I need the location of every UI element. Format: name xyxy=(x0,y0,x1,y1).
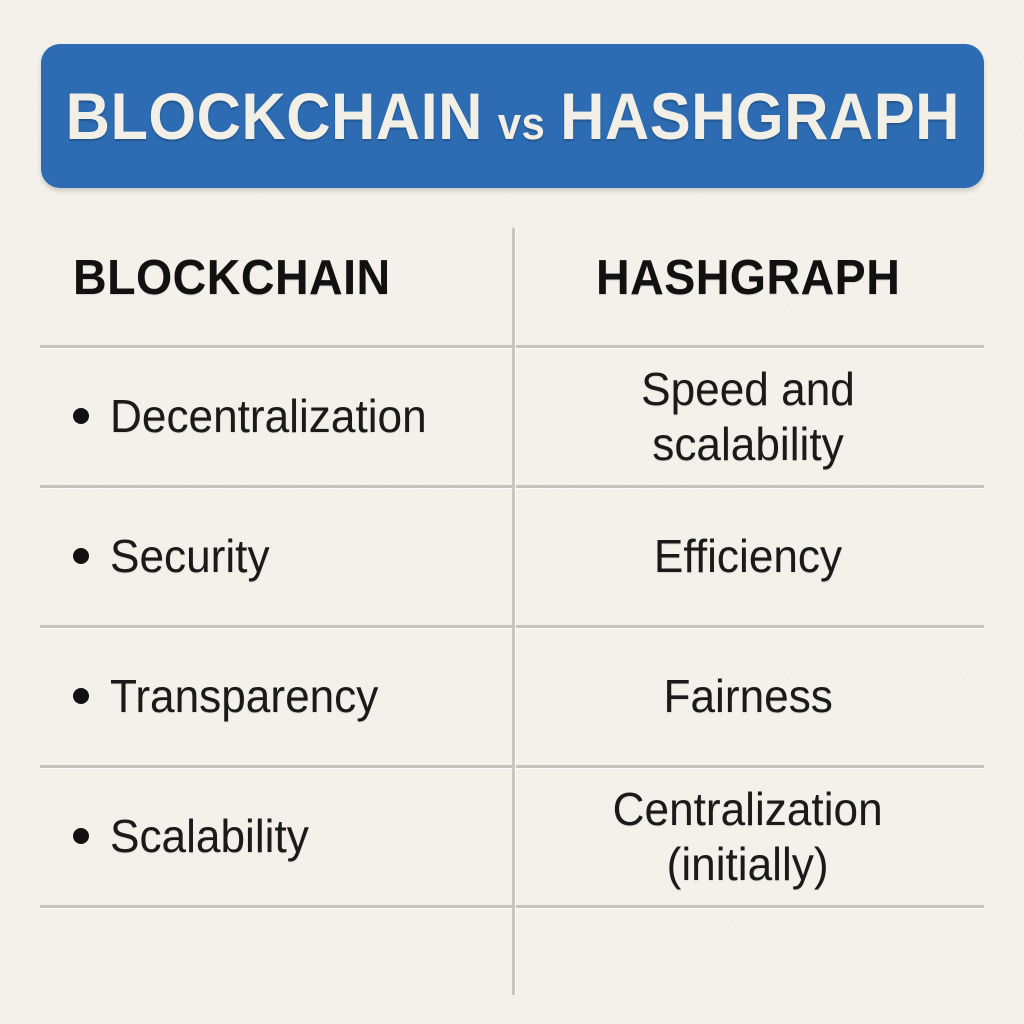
cell-hashgraph-3: Fairness xyxy=(512,628,984,765)
cell-blockchain-4: Scalability xyxy=(40,768,512,905)
bullet-list-item: Decentralization xyxy=(73,389,440,443)
bullet-list-item: Scalability xyxy=(73,809,317,863)
cell-text-hashgraph-2: Efficiency xyxy=(654,529,842,583)
column-header-label-blockchain: BLOCKCHAIN xyxy=(73,250,391,306)
column-header-cell-blockchain: BLOCKCHAIN xyxy=(40,210,512,345)
cell-hashgraph-2: Efficiency xyxy=(512,488,984,625)
title-left-term: BLOCKCHAIN xyxy=(65,83,482,149)
bullet-dot-icon xyxy=(73,408,89,424)
cell-text-blockchain-1: Decentralization xyxy=(110,389,427,443)
cell-text-hashgraph-1: Speed and scalability xyxy=(546,362,949,471)
table-header-row: BLOCKCHAIN HASHGRAPH xyxy=(40,210,984,345)
title-banner: BLOCKCHAINvsHASHGRAPH xyxy=(41,44,984,188)
bullet-list-item: Transparency xyxy=(73,669,390,723)
table-row: Security Efficiency xyxy=(40,488,984,625)
column-header-cell-hashgraph: HASHGRAPH xyxy=(512,210,984,345)
table-row: Transparency Fairness xyxy=(40,628,984,765)
cell-text-blockchain-4: Scalability xyxy=(110,809,309,863)
cell-text-blockchain-3: Transparency xyxy=(110,669,378,723)
cell-text-hashgraph-4: Centralization (initially) xyxy=(613,782,883,891)
column-header-label-hashgraph: HASHGRAPH xyxy=(596,250,900,306)
cell-blockchain-2: Security xyxy=(40,488,512,625)
cell-hashgraph-1: Speed and scalability xyxy=(512,348,984,485)
title-vs-separator: vs xyxy=(497,101,544,146)
title-right-term: HASHGRAPH xyxy=(560,83,960,149)
bullet-list-item: Security xyxy=(73,529,276,583)
table-row: Scalability Centralization (initially) xyxy=(40,768,984,905)
cell-text-hashgraph-3: Fairness xyxy=(663,669,832,723)
comparison-table: BLOCKCHAIN HASHGRAPH Decentralization Sp… xyxy=(40,210,984,980)
cell-text-blockchain-2: Security xyxy=(110,529,270,583)
bullet-dot-icon xyxy=(73,548,89,564)
cell-blockchain-3: Transparency xyxy=(40,628,512,765)
table-row: Decentralization Speed and scalability xyxy=(40,348,984,485)
bullet-dot-icon xyxy=(73,688,89,704)
bullet-dot-icon xyxy=(73,828,89,844)
cell-blockchain-1: Decentralization xyxy=(40,348,512,485)
page-title: BLOCKCHAINvsHASHGRAPH xyxy=(65,83,959,149)
cell-hashgraph-4: Centralization (initially) xyxy=(512,768,984,905)
